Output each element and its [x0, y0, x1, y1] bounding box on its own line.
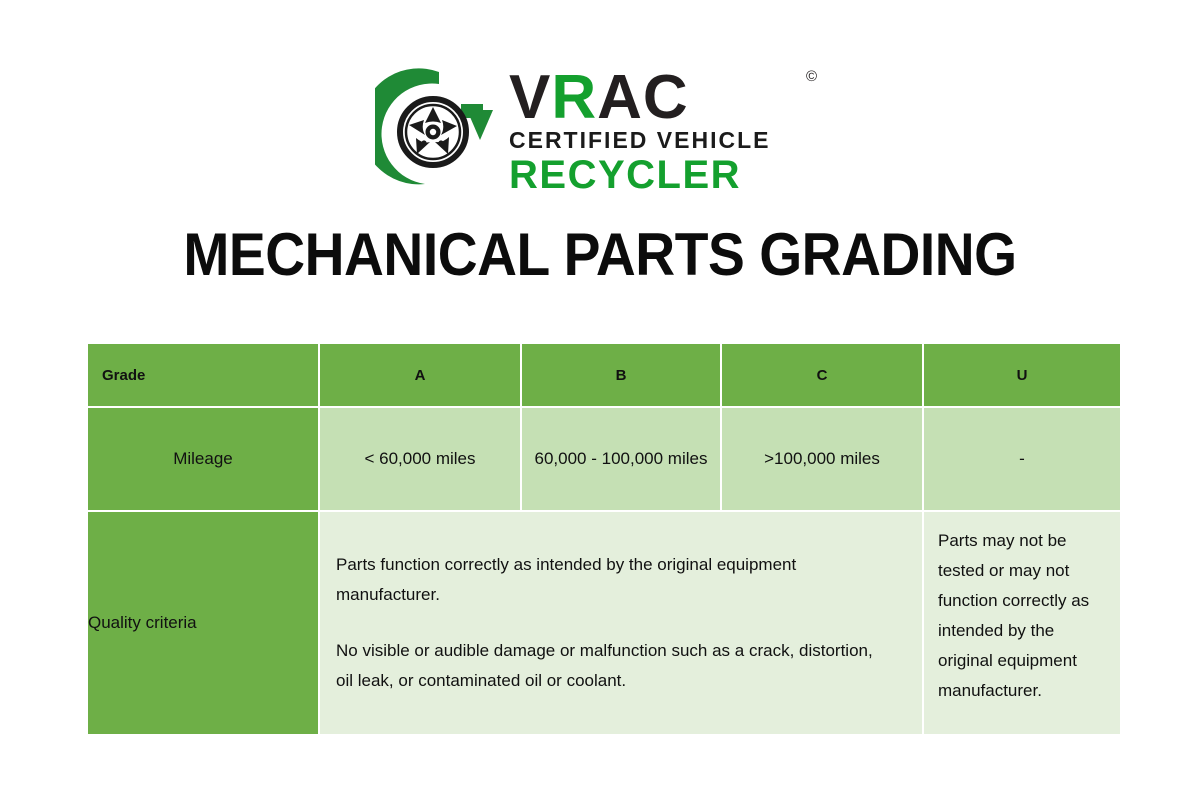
row-label-mileage: Mileage: [88, 408, 318, 510]
document-page: VRAC © CERTIFIED VEHICLE RECYCLER MECHAN…: [0, 0, 1200, 800]
mileage-grade-u-value: -: [924, 408, 1120, 510]
header-grade-label: Grade: [88, 344, 318, 406]
table-row-mileage: Mileage < 60,000 miles 60,000 - 100,000 …: [88, 408, 1120, 510]
logo-letter-a: A: [597, 63, 643, 132]
wheel-rim-icon: [400, 99, 466, 165]
header-grade-u: U: [924, 344, 1120, 406]
mileage-grade-b-value: 60,000 - 100,000 miles: [522, 408, 720, 510]
table-row-quality-criteria: Quality criteria Parts function correctl…: [88, 512, 1120, 734]
logo-tagline-certified-vehicle: CERTIFIED VEHICLE: [509, 127, 770, 154]
quality-criteria-paragraph-2: No visible or audible damage or malfunct…: [336, 636, 882, 696]
recycle-arrow-icon: [375, 66, 503, 194]
vrac-logo: VRAC © CERTIFIED VEHICLE RECYCLER: [375, 55, 845, 205]
quality-criteria-u-value: Parts may not be tested or may not funct…: [924, 512, 1120, 734]
logo-wordmark: VRAC © CERTIFIED VEHICLE RECYCLER: [509, 65, 770, 196]
header-grade-b: B: [522, 344, 720, 406]
header-grade-c: C: [722, 344, 922, 406]
logo-letter-c: C: [643, 63, 689, 132]
logo-letter-r: R: [551, 63, 597, 132]
table-header-row: Grade A B C U: [88, 344, 1120, 406]
logo-tagline-recycler: RECYCLER: [509, 155, 770, 195]
copyright-icon: ©: [806, 69, 817, 84]
quality-criteria-abc-value: Parts function correctly as intended by …: [320, 512, 922, 734]
mechanical-parts-grading-table: Grade A B C U Mileage < 60,000 miles 60,…: [86, 342, 1122, 736]
quality-criteria-paragraph-1: Parts function correctly as intended by …: [336, 550, 882, 610]
logo-brand-vrac: VRAC: [509, 69, 770, 127]
mileage-grade-a-value: < 60,000 miles: [320, 408, 520, 510]
page-title: MECHANICAL PARTS GRADING: [48, 222, 1152, 288]
logo-letter-v: V: [509, 63, 551, 132]
mileage-grade-c-value: >100,000 miles: [722, 408, 922, 510]
header-grade-a: A: [320, 344, 520, 406]
logo-mark: [375, 66, 503, 194]
row-label-quality-criteria: Quality criteria: [88, 512, 318, 734]
